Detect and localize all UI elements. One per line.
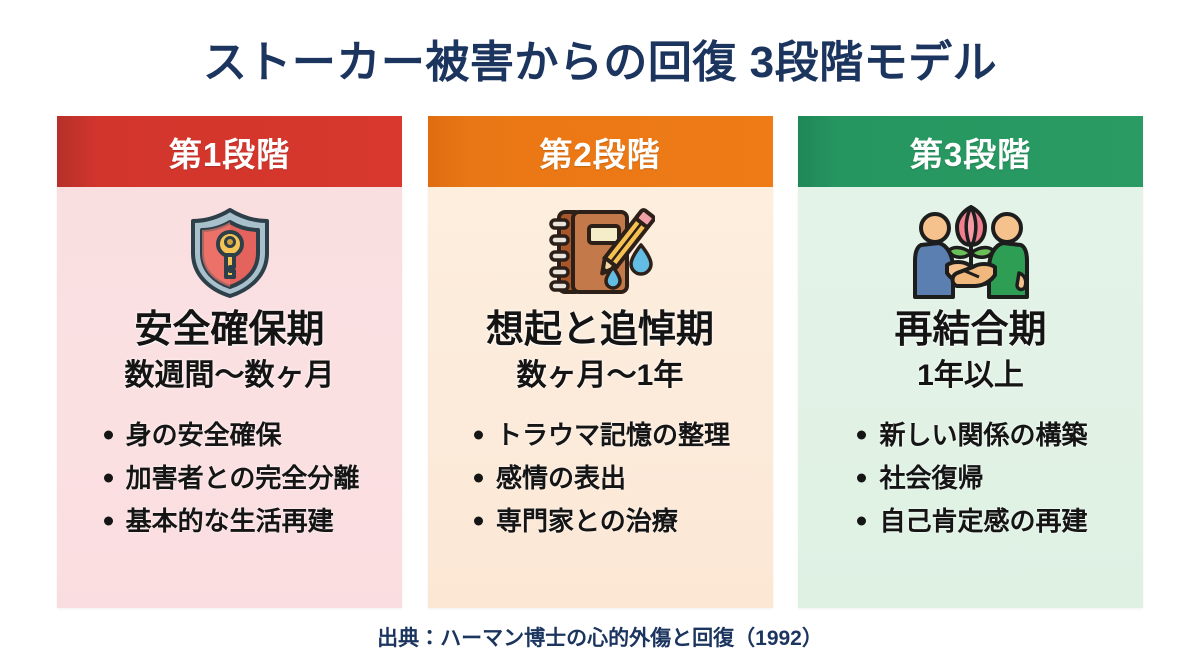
list-item: 加害者との完全分離 [100, 465, 360, 491]
source-citation: 出典：ハーマン博士の心的外傷と回復（1992） [0, 622, 1200, 652]
stage-1-name: 安全確保期 [134, 309, 324, 352]
stage-2-name: 想起と追悼期 [486, 309, 714, 352]
stage-3-bullet-list: 新しい関係の構築 社会復帰 自己肯定感の再建 [853, 422, 1087, 534]
list-item: 専門家との治療 [470, 508, 730, 534]
notebook-pencil-tears-icon [545, 201, 655, 305]
stage-1-duration: 数週間〜数ヶ月 [125, 358, 335, 394]
stage-2-header-label: 第2段階 [428, 116, 773, 187]
stage-1-header-label: 第1段階 [57, 116, 402, 187]
stage-2-body: 想起と追悼期 数ヶ月〜1年 トラウマ記憶の整理 感情の表出 専門家との治療 [428, 187, 773, 608]
list-item: 感情の表出 [470, 465, 730, 491]
shield-key-icon [184, 201, 276, 305]
stage-card-3: 第3段階 [798, 116, 1143, 608]
stage-2-duration: 数ヶ月〜1年 [517, 358, 684, 394]
stage-3-header-label: 第3段階 [798, 116, 1143, 187]
list-item: 基本的な生活再建 [100, 508, 360, 534]
stage-3-name: 再結合期 [894, 309, 1046, 352]
stage-3-duration: 1年以上 [917, 358, 1024, 394]
stage-card-1: 第1段階 安全確保期 数週間〜数ヶ月 身の安全確保 加害者と [57, 116, 402, 608]
stage-1-bullet-list: 身の安全確保 加害者との完全分離 基本的な生活再建 [100, 422, 360, 534]
list-item: 新しい関係の構築 [853, 422, 1087, 448]
stage-card-2: 第2段階 [428, 116, 773, 608]
list-item: 社会復帰 [853, 465, 1087, 491]
stage-cards-row: 第1段階 安全確保期 数週間〜数ヶ月 身の安全確保 加害者と [57, 116, 1143, 608]
page-title: ストーカー被害からの回復 3段階モデル [0, 26, 1200, 90]
stage-1-body: 安全確保期 数週間〜数ヶ月 身の安全確保 加害者との完全分離 基本的な生活再建 [57, 187, 402, 608]
handshake-flower-icon [907, 201, 1035, 305]
list-item: トラウマ記憶の整理 [470, 422, 730, 448]
list-item: 身の安全確保 [100, 422, 360, 448]
stage-2-bullet-list: トラウマ記憶の整理 感情の表出 専門家との治療 [470, 422, 730, 534]
stage-3-body: 再結合期 1年以上 新しい関係の構築 社会復帰 自己肯定感の再建 [798, 187, 1143, 608]
list-item: 自己肯定感の再建 [853, 508, 1087, 534]
infographic-page: ストーカー被害からの回復 3段階モデル 第1段階 安全確保期 数週間〜数ヶ月 [0, 0, 1200, 670]
